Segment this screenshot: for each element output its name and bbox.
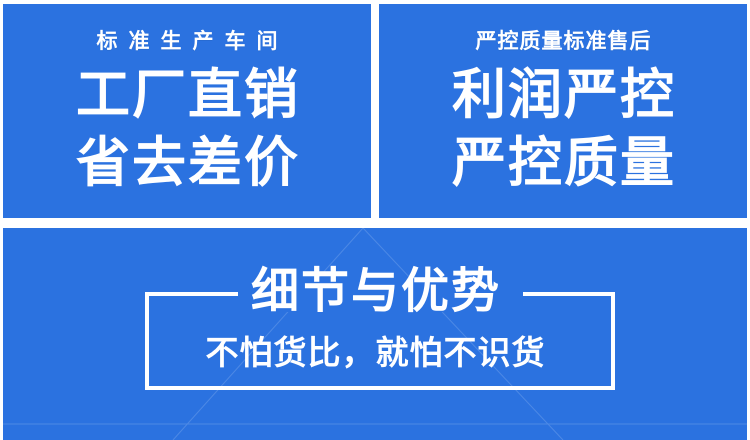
left-panel-eyebrow: 标准生产车间 <box>86 31 289 52</box>
right-panel-headline-line1: 利润严控 <box>450 68 676 122</box>
panel-factory-direct: 标准生产车间 工厂直销 省去差价 <box>3 4 371 218</box>
right-panel-eyebrow: 严控质量标准售后 <box>475 31 652 52</box>
bottom-panel-title: 细节与优势 <box>3 268 747 316</box>
bottom-panel-subtitle: 不怕货比，就怕不识货 <box>3 336 747 369</box>
promo-banner: 标准生产车间 工厂直销 省去差价 严控质量标准售后 利润严控 严控质量 细节与优… <box>0 0 750 440</box>
left-panel-headline-line2: 省去差价 <box>74 136 300 190</box>
panel-details-advantages: 细节与优势 不怕货比，就怕不识货 <box>3 228 747 440</box>
right-panel-headline-line2: 严控质量 <box>450 136 676 190</box>
top-panel-row: 标准生产车间 工厂直销 省去差价 严控质量标准售后 利润严控 严控质量 <box>0 0 750 220</box>
panel-quality-control: 严控质量标准售后 利润严控 严控质量 <box>379 4 747 218</box>
left-panel-headline-line1: 工厂直销 <box>74 68 300 122</box>
